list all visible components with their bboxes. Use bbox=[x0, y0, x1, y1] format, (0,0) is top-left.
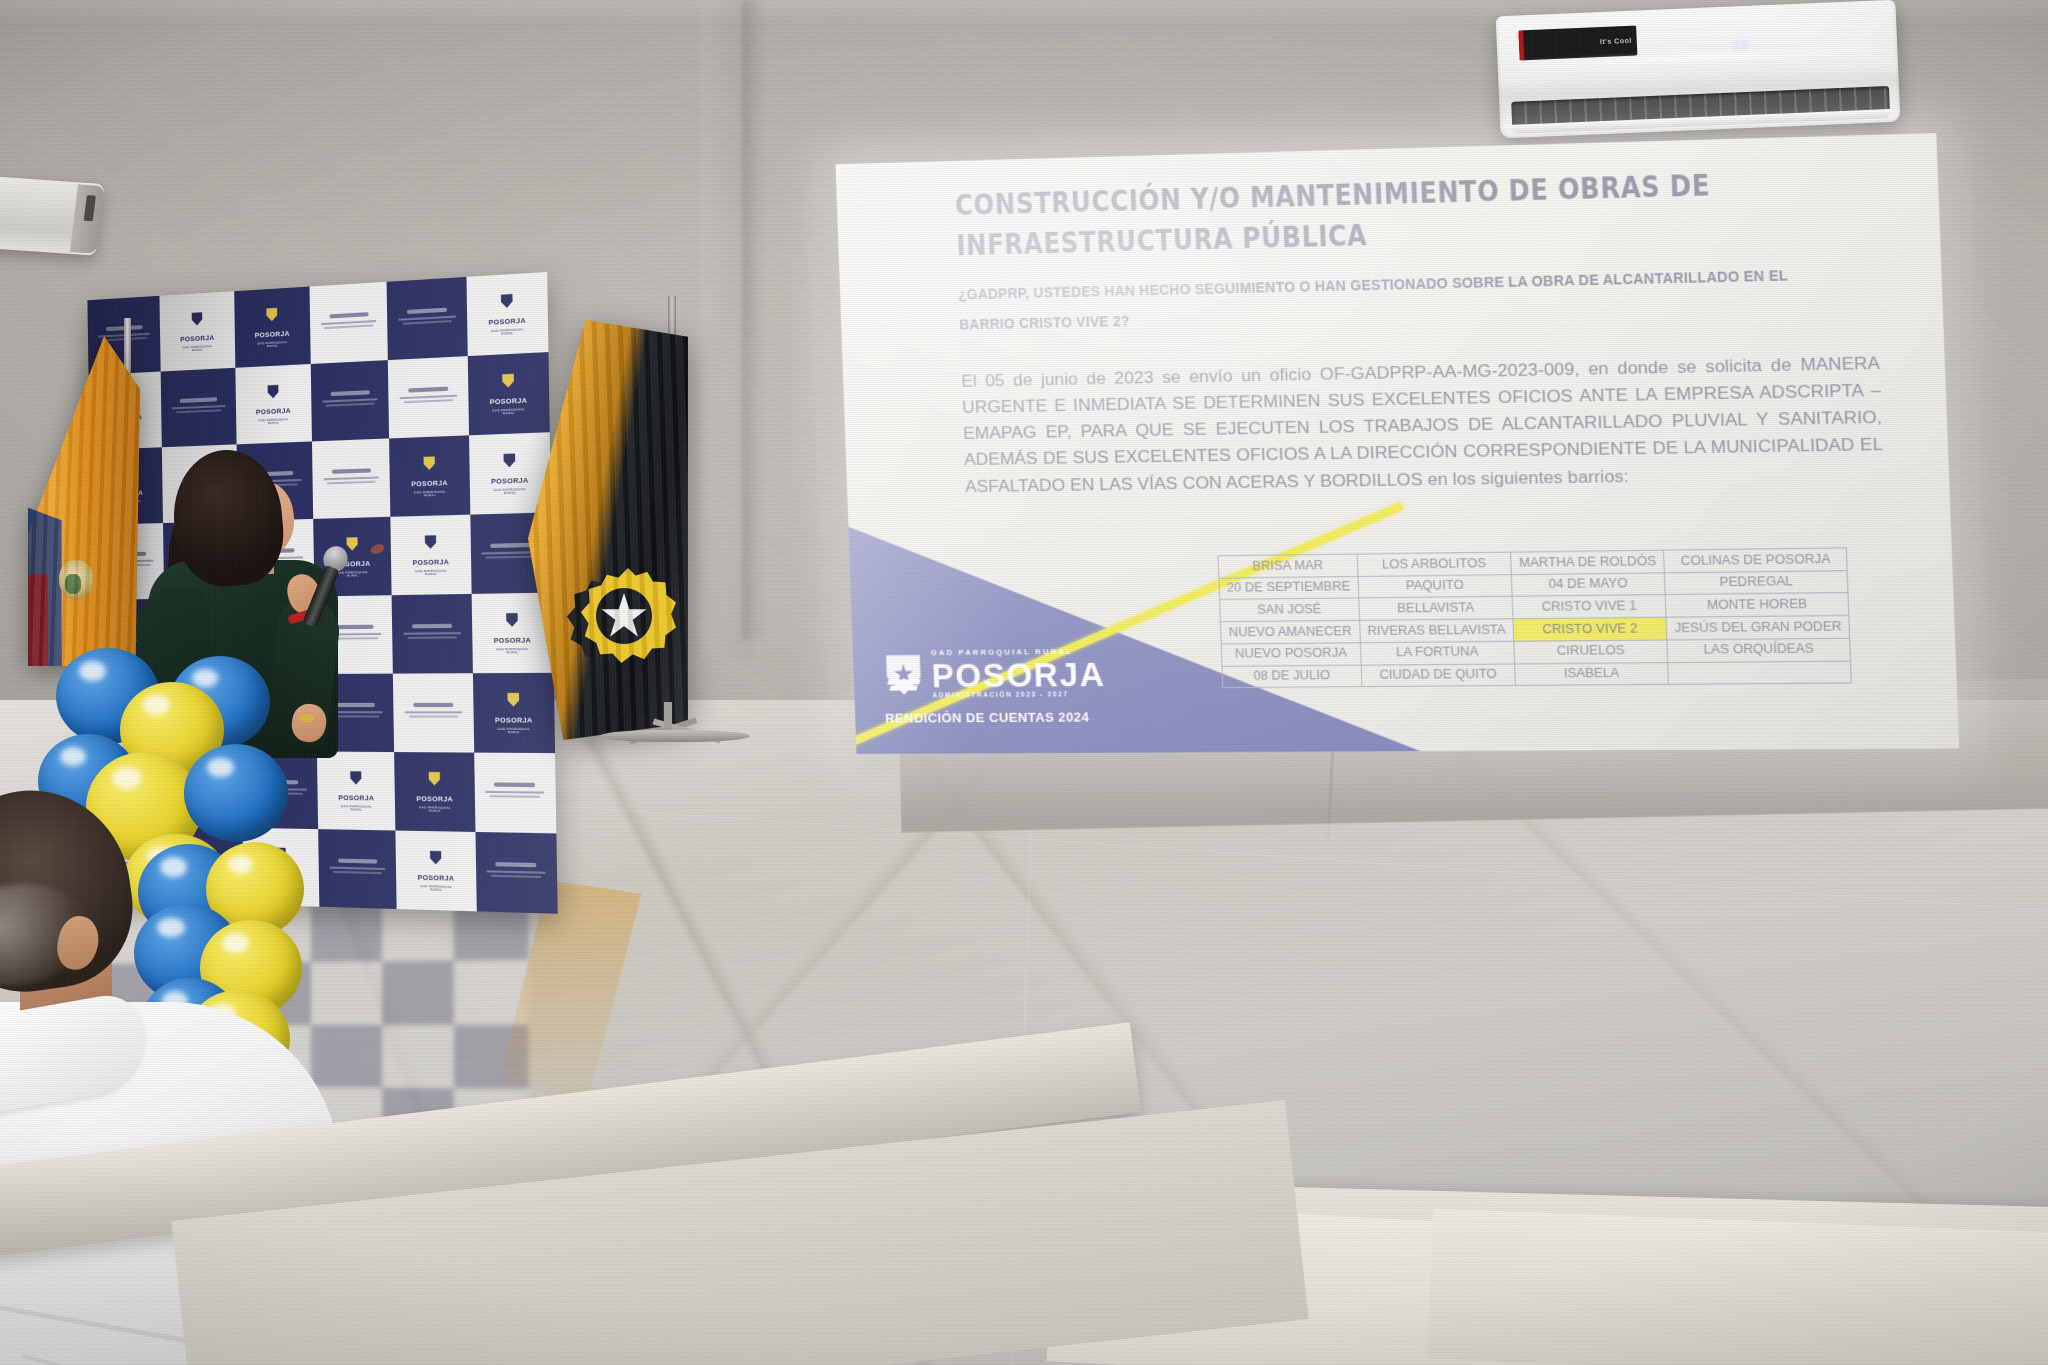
table-cell: NUEVO POSORJA bbox=[1221, 643, 1361, 666]
table-cell: RIVERAS BELLAVISTA bbox=[1359, 619, 1514, 643]
posorja-parish-flag bbox=[528, 320, 688, 740]
stage-step-far-right bbox=[1427, 1209, 2048, 1365]
table-cell: CRISTO VIVE 2 bbox=[1513, 617, 1667, 641]
table-cell: 08 DE JULIO bbox=[1222, 665, 1362, 688]
flag-stand-parish bbox=[600, 700, 750, 742]
table-cell: ISABELA bbox=[1515, 662, 1669, 686]
slide-logo: GAD PARROQUIAL RURAL POSORJA ADMINISTRAC… bbox=[883, 648, 1107, 726]
photo-scene: It's Cool 16 POSORJAGAD PARROQUIAL RURAL… bbox=[0, 0, 2048, 1365]
table-cell: NUEVO AMANECER bbox=[1220, 621, 1360, 644]
projected-slide: GAD PARROQUIAL RURAL POSORJA ADMINISTRAC… bbox=[835, 133, 1959, 754]
table-cell: BRISA MAR bbox=[1218, 554, 1358, 578]
ac-brand-text: It's Cool bbox=[1600, 37, 1632, 45]
ring bbox=[300, 714, 314, 722]
logo-org-name: POSORJA bbox=[931, 657, 1106, 692]
logo-report-label: RENDICIÓN DE CUENTAS 2024 bbox=[885, 709, 1107, 725]
slide-body-text: El 05 de junio de 2023 se envío un ofici… bbox=[961, 349, 1885, 499]
table-cell: COLINAS DE POSORJA bbox=[1664, 548, 1848, 573]
table-row: 08 DE JULIOCIUDAD DE QUITOISABELA bbox=[1222, 661, 1852, 688]
table-cell: PEDREGAL bbox=[1665, 570, 1849, 595]
ecuador-flag bbox=[28, 336, 140, 666]
table-cell: SAN JOSÉ bbox=[1220, 598, 1360, 622]
logo-administration: ADMINISTRACIÓN 2023 - 2027 bbox=[932, 692, 1106, 700]
table-cell: BELLAVISTA bbox=[1359, 597, 1514, 621]
air-conditioner-right: It's Cool 16 bbox=[1496, 0, 1901, 138]
ac-brand-badge: It's Cool bbox=[1518, 26, 1637, 61]
table-cell: PAQUITO bbox=[1358, 574, 1513, 598]
table-cell: 20 DE SEPTIEMBRE bbox=[1219, 576, 1359, 600]
air-conditioner-left bbox=[0, 176, 104, 255]
table-cell bbox=[1668, 661, 1852, 685]
barrios-table: BRISA MARLOS ARBOLITOSMARTHA DE ROLDÓSCO… bbox=[1217, 547, 1852, 688]
table-cell: MARTHA DE ROLDÓS bbox=[1511, 550, 1665, 574]
logo-org-small: GAD PARROQUIAL RURAL bbox=[931, 648, 1105, 657]
table-cell: 04 DE MAYO bbox=[1512, 573, 1666, 597]
table-cell: JESÚS DEL GRAN PODER bbox=[1666, 616, 1850, 640]
table-cell: CIRUELOS bbox=[1514, 640, 1668, 664]
shield-icon bbox=[883, 652, 925, 696]
table-cell: LOS ARBOLITOS bbox=[1357, 552, 1512, 576]
ac-display: 16 bbox=[1733, 38, 1749, 53]
table-cell: LA FORTUNA bbox=[1360, 641, 1515, 665]
table-cell: CRISTO VIVE 1 bbox=[1512, 595, 1666, 619]
table-cell: CIUDAD DE QUITO bbox=[1361, 664, 1516, 687]
slide-title: CONSTRUCCIÓN Y/O MANTENIMIENTO DE OBRAS … bbox=[954, 162, 1799, 265]
slide-question: ¿GADPRP, USTEDES HAN HECHO SEGUIMIENTO O… bbox=[958, 262, 1797, 341]
table-cell: MONTE HOREB bbox=[1665, 593, 1849, 617]
table-cell: LAS ORQUÍDEAS bbox=[1667, 638, 1851, 662]
